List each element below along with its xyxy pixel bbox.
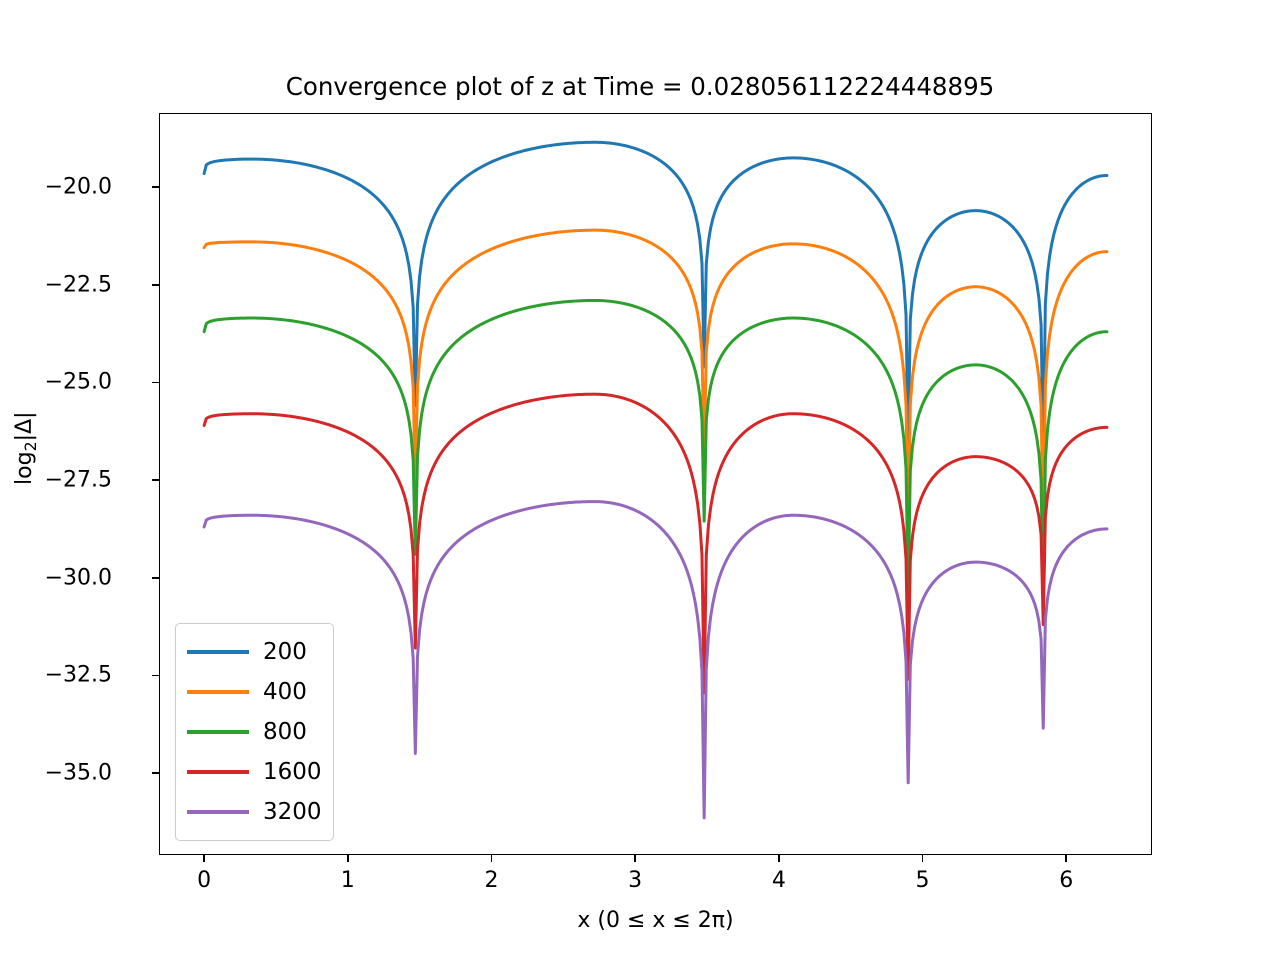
matplotlib-figure: Convergence plot of z at Time = 0.028056…	[0, 0, 1280, 960]
legend-item-200[interactable]: 200	[187, 632, 322, 672]
legend-item-400[interactable]: 400	[187, 672, 322, 712]
x-tick-label: 2	[431, 868, 551, 893]
legend-item-label: 800	[263, 721, 307, 744]
y-tick-mark	[152, 284, 159, 286]
legend-item-label: 400	[263, 681, 307, 704]
x-tick-label: 6	[1006, 868, 1126, 893]
series-line-200	[204, 142, 1107, 456]
legend-item-1600[interactable]: 1600	[187, 752, 322, 792]
y-tick-label: −32.5	[0, 663, 112, 688]
x-tick-mark	[634, 855, 636, 862]
legend-color-swatch	[187, 650, 249, 654]
legend-item-label: 3200	[263, 801, 322, 824]
y-tick-mark	[152, 772, 159, 774]
x-axis-label: x (0 ≤ x ≤ 2π)	[159, 908, 1152, 933]
legend[interactable]: 20040080016003200	[175, 623, 334, 841]
y-tick-label: −20.0	[0, 175, 112, 200]
y-tick-mark	[152, 675, 159, 677]
legend-color-swatch	[187, 810, 249, 814]
y-tick-mark	[152, 382, 159, 384]
y-axis-label-prefix: log	[12, 451, 37, 485]
x-tick-label: 0	[144, 868, 264, 893]
x-tick-mark	[203, 855, 205, 862]
y-axis-label: log2|Δ|	[12, 348, 40, 548]
y-tick-label: −35.0	[0, 760, 112, 785]
legend-item-label: 1600	[263, 761, 322, 784]
x-tick-mark	[1065, 855, 1067, 862]
legend-color-swatch	[187, 770, 249, 774]
legend-item-label: 200	[263, 641, 307, 664]
y-axis-label-suffix: |Δ|	[12, 411, 37, 441]
y-tick-mark	[152, 479, 159, 481]
x-tick-label: 4	[719, 868, 839, 893]
x-tick-label: 5	[863, 868, 983, 893]
legend-item-3200[interactable]: 3200	[187, 792, 322, 832]
legend-color-swatch	[187, 690, 249, 694]
series-line-1600	[204, 394, 1107, 693]
legend-item-800[interactable]: 800	[187, 712, 322, 752]
x-tick-label: 3	[575, 868, 695, 893]
y-tick-label: −30.0	[0, 565, 112, 590]
page-title: Convergence plot of z at Time = 0.028056…	[0, 72, 1280, 101]
y-tick-mark	[152, 577, 159, 579]
series-line-400	[204, 230, 1107, 542]
x-tick-label: 1	[288, 868, 408, 893]
x-tick-mark	[347, 855, 349, 862]
series-line-3200	[204, 502, 1107, 818]
x-tick-mark	[778, 855, 780, 862]
legend-color-swatch	[187, 730, 249, 734]
y-tick-mark	[152, 186, 159, 188]
y-tick-label: −22.5	[0, 272, 112, 297]
y-axis-label-subscript: 2	[21, 441, 40, 451]
x-tick-mark	[491, 855, 493, 862]
x-tick-mark	[922, 855, 924, 862]
